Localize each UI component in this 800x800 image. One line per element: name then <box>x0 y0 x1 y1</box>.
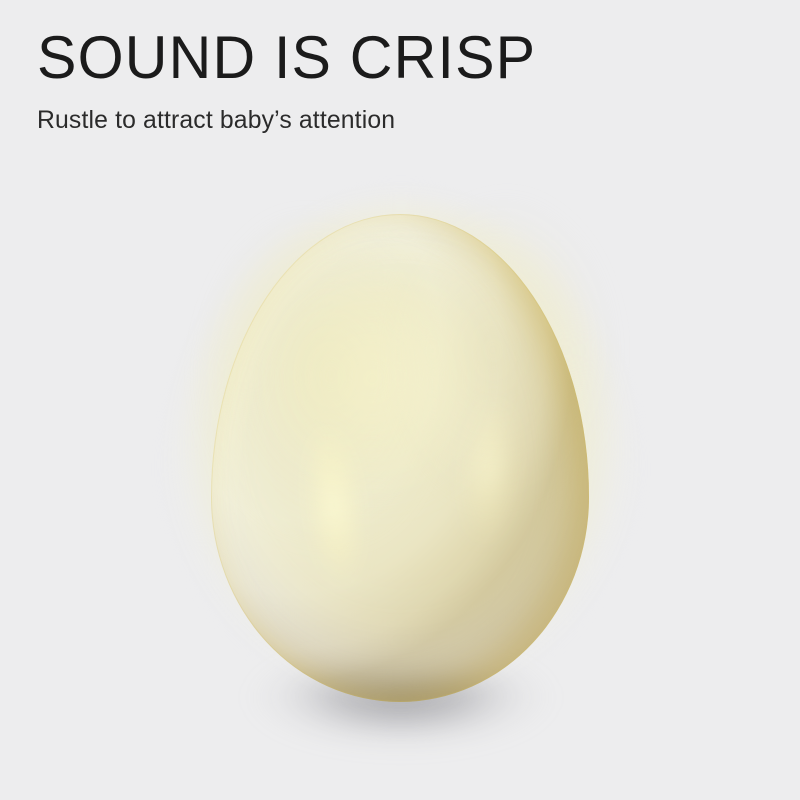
marketing-copy: SOUND IS CRISP Rustle to attract baby’s … <box>37 26 544 136</box>
page-subtitle: Rustle to attract baby’s attention <box>37 90 539 136</box>
product-hero-banner: SOUND IS CRISP Rustle to attract baby’s … <box>0 0 800 800</box>
page-title: SOUND IS CRISP <box>37 26 536 90</box>
